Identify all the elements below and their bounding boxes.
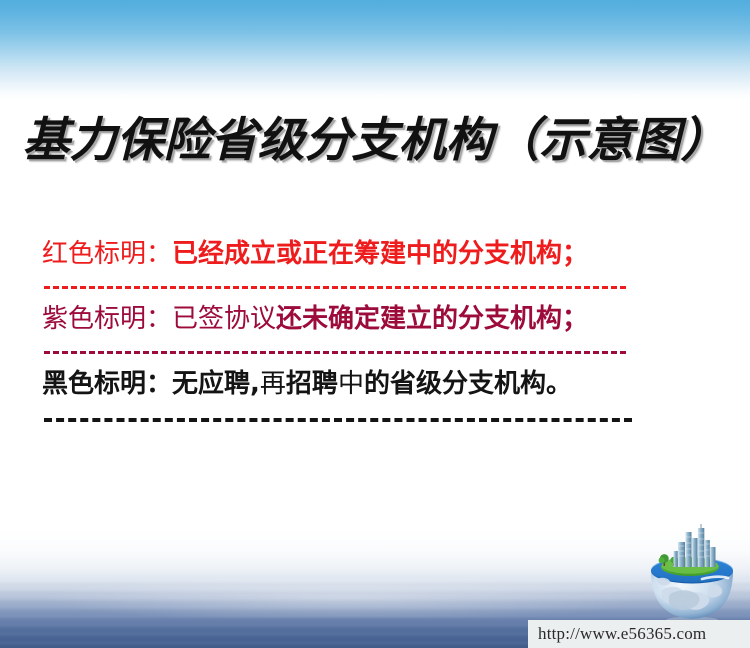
legend-body-black-e: 的省级分支机构。 (364, 369, 572, 399)
page-title: 基力保险省级分支机构（示意图） (0, 101, 750, 170)
legend-body-red: 已经成立或正在筹建中的分支机构； (172, 239, 588, 269)
legend-lead-red: 红色标明： (42, 239, 172, 269)
legend-lead-purple: 紫色标明： (42, 304, 172, 334)
legend-body-black-a: 无应聘, (172, 369, 260, 399)
globe-city-logo-icon (640, 524, 744, 624)
legend-body-black-d: 中 (338, 369, 364, 399)
ocean-sheen (0, 578, 750, 618)
legend-block: 红色标明：已经成立或正在筹建中的分支机构； 紫色标明：已签协议还未确定建立的分支… (42, 236, 682, 422)
watermark-url-text: http://www.e56365.com (538, 624, 706, 644)
legend-text-black: 黑色标明：无应聘,再招聘中的省级分支机构。 (42, 366, 682, 402)
url-watermark: http://www.e56365.com (528, 620, 750, 648)
legend-body-purple-b: 还未确定建立的分支机构； (276, 304, 588, 334)
divider-purple (44, 351, 626, 354)
legend-body-black-c: 招聘 (286, 369, 338, 399)
legend-lead-black: 黑色标明： (42, 369, 172, 399)
legend-row-black: 黑色标明：无应聘,再招聘中的省级分支机构。 (42, 366, 682, 422)
legend-row-red: 红色标明：已经成立或正在筹建中的分支机构； (42, 236, 682, 289)
legend-row-purple: 紫色标明：已签协议还未确定建立的分支机构； (42, 301, 682, 354)
sky-gradient-band (0, 0, 750, 100)
legend-text-red: 红色标明：已经成立或正在筹建中的分支机构； (42, 236, 682, 272)
divider-black (44, 418, 632, 422)
legend-body-purple-a: 已签协议 (172, 304, 276, 334)
legend-text-purple: 紫色标明：已签协议还未确定建立的分支机构； (42, 301, 682, 337)
slide-canvas: 基力保险省级分支机构（示意图） 红色标明：已经成立或正在筹建中的分支机构； 紫色… (0, 0, 750, 648)
divider-red (44, 286, 626, 289)
legend-body-black-b: 再 (260, 369, 286, 399)
